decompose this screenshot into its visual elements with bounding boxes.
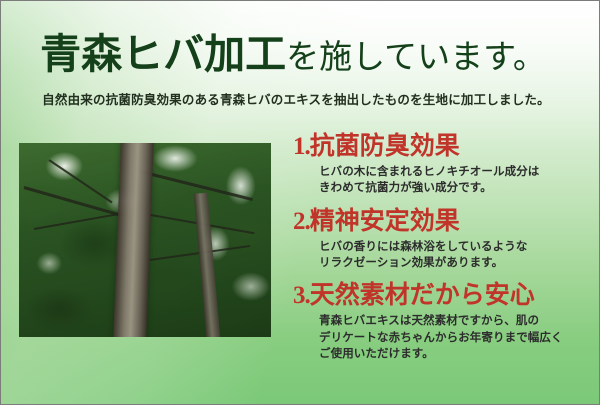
benefit-title-2: 精神安定効果 [310,208,460,235]
benefit-description-line: ヒバの木に含まれるヒノキチオール成分は [319,164,593,180]
benefit-item-1: 1.抗菌防臭効果 ヒバの木に含まれるヒノキチオール成分は きわめて抗菌力が強い成… [293,133,593,197]
benefit-description-line: ご使用いただけます。 [319,346,593,362]
benefit-description-line: きわめて抗菌力が強い成分です。 [319,180,593,196]
benefit-description-1: ヒバの木に含まれるヒノキチオール成分は きわめて抗菌力が強い成分です。 [319,164,593,197]
forest-photo [19,143,271,337]
hiba-promo-banner: 青森ヒバ加工を施しています。 自然由来の抗菌防臭効果のある青森ヒバのエキスを抽出… [0,0,600,405]
benefit-list: 1.抗菌防臭効果 ヒバの木に含まれるヒノキチオール成分は きわめて抗菌力が強い成… [293,133,593,368]
title-strong: 青森ヒバ加工 [40,31,286,77]
benefit-heading-3: 3.天然素材だから安心 [293,282,593,310]
benefit-heading-2: 2.精神安定効果 [293,208,593,236]
title-light: を施しています。 [286,40,546,76]
benefit-number-2: 2. [293,208,310,235]
benefit-description-line: デリケートな赤ちゃんからお年寄りまで幅広く [319,330,593,346]
benefit-title-3: 天然素材だから安心 [310,282,535,309]
benefit-heading-1: 1.抗菌防臭効果 [293,133,593,161]
benefit-number-1: 1. [293,133,310,160]
benefit-description-line: リラクゼーション効果があります。 [319,255,593,271]
benefit-item-2: 2.精神安定効果 ヒバの香りには森林浴をしているような リラクゼーション効果があ… [293,208,593,272]
benefit-number-3: 3. [293,282,310,309]
banner-content: 青森ヒバ加工を施しています。 自然由来の抗菌防臭効果のある青森ヒバのエキスを抽出… [1,1,599,404]
subtitle: 自然由来の抗菌防臭効果のある青森ヒバのエキスを抽出したものを生地に加工しました。 [1,89,591,108]
benefit-item-3: 3.天然素材だから安心 青森ヒバエキスは天然素材ですから、肌の デリケートな赤ち… [293,282,593,362]
benefit-description-2: ヒバの香りには森林浴をしているような リラクゼーション効果があります。 [319,239,593,272]
benefit-title-1: 抗菌防臭効果 [310,133,460,160]
page-title: 青森ヒバ加工を施しています。 [1,34,585,75]
benefit-description-line: ヒバの香りには森林浴をしているような [319,239,593,255]
benefit-description-line: 青森ヒバエキスは天然素材ですから、肌の [319,313,593,329]
benefit-description-3: 青森ヒバエキスは天然素材ですから、肌の デリケートな赤ちゃんからお年寄りまで幅広… [319,313,593,362]
